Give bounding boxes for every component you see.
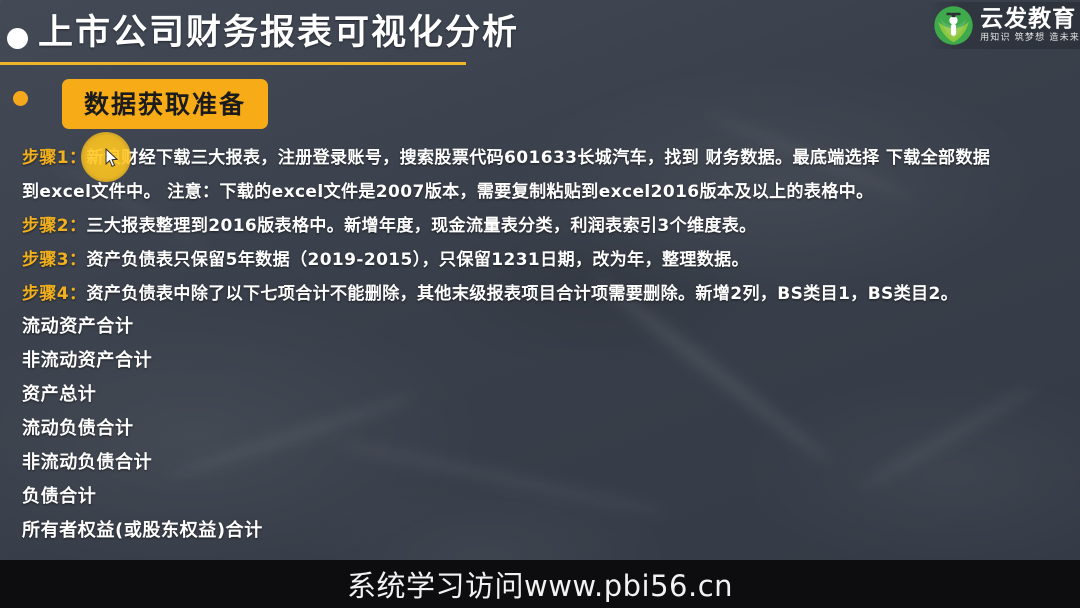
list-item: 流动资产合计	[22, 310, 263, 344]
step-4-label: 步骤4：	[22, 284, 86, 304]
step-4-line: 步骤4：资产负债表中除了以下七项合计不能删除，其他末级报表项目合计项需要删除。新…	[22, 279, 958, 304]
logo-mark-icon	[933, 5, 974, 46]
step-1-text-line-1: 新浪财经下载三大报表，注册登录账号，搜索股票代码601633长城汽车，找到 财务…	[86, 148, 990, 168]
step-2-line: 步骤2：三大报表整理到2016版表格中。新增年度，现金流量表分类，利润表索引3个…	[22, 211, 757, 236]
title-underline-divider	[0, 62, 466, 65]
list-item: 非流动资产合计	[22, 344, 263, 378]
step-3-label: 步骤3：	[22, 250, 86, 270]
page-title: 上市公司财务报表可视化分析	[38, 12, 519, 56]
step-1-line-2: 到excel文件中。 注意：下载的excel文件是2007版本，需要复制粘贴到e…	[22, 177, 874, 202]
section-badge: 数据获取准备	[62, 79, 268, 129]
chalk-smudge	[50, 156, 211, 255]
logo-name: 云发教育	[980, 8, 1080, 31]
section-bullet-icon	[13, 91, 28, 106]
step-2-label: 步骤2：	[22, 216, 86, 236]
list-item: 流动负债合计	[22, 412, 263, 446]
step-1-label: 步骤1：	[22, 148, 86, 168]
step-1-line-1: 步骤1：新浪财经下载三大报表，注册登录账号，搜索股票代码601633长城汽车，找…	[22, 143, 990, 168]
list-item: 所有者权益(或股东权益)合计	[22, 514, 263, 548]
presentation-slide: 上市公司财务报表可视化分析 数据获取准备 步骤1：新浪财经下载三大报表，注册登录…	[0, 0, 1080, 608]
watermark-text: 系统学习访问www.pbi56.cn	[0, 560, 1080, 608]
totals-list: 流动资产合计 非流动资产合计 资产总计 流动负债合计 非流动负债合计 负债合计 …	[22, 310, 263, 548]
list-item: 资产总计	[22, 378, 263, 412]
logo-tagline: 用知识 筑梦想 造未来	[980, 34, 1080, 43]
chalk-smudge	[332, 435, 668, 520]
list-item: 非流动负债合计	[22, 446, 263, 480]
list-item: 负债合计	[22, 480, 263, 514]
step-3-line: 步骤3：资产负债表只保留5年数据（2019-2015），只保留1231日期，改为…	[22, 245, 749, 270]
title-bullet-icon	[7, 28, 28, 49]
brand-logo: 云发教育 用知识 筑梦想 造未来	[927, 2, 1080, 49]
step-4-text: 资产负债表中除了以下七项合计不能删除，其他末级报表项目合计项需要删除。新增2列，…	[86, 284, 958, 304]
step-3-text: 资产负债表只保留5年数据（2019-2015），只保留1231日期，改为年，整理…	[86, 250, 749, 270]
logo-text-block: 云发教育 用知识 筑梦想 造未来	[980, 8, 1080, 43]
chalk-smudge	[860, 381, 1040, 492]
step-2-text: 三大报表整理到2016版表格中。新增年度，现金流量表分类，利润表索引3个维度表。	[86, 216, 756, 236]
